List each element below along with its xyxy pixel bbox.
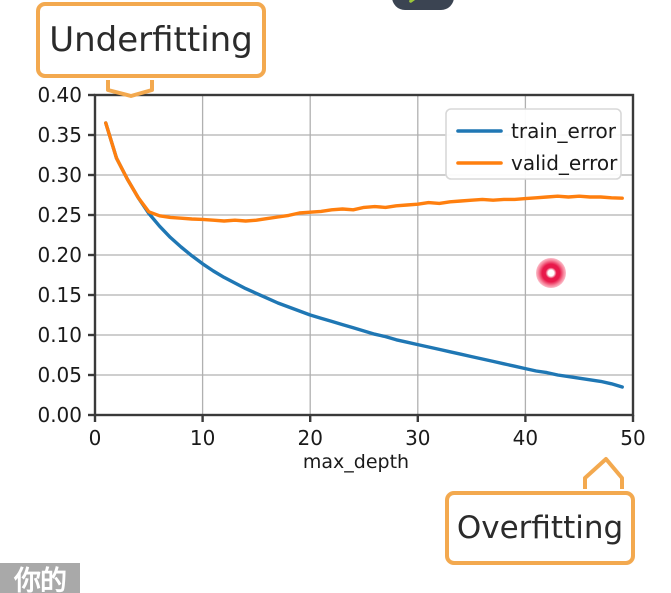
underfitting-callout-label: Underfitting [49, 23, 253, 57]
overfitting-callout-label: Overfitting [457, 513, 623, 544]
subtitle-chip: 你的 [0, 563, 80, 593]
screenshot-stage: 0.000.050.100.150.200.250.300.350.400102… [0, 0, 671, 593]
overfitting-callout: Overfitting [445, 491, 635, 565]
cursor-highlight-dot [536, 258, 566, 288]
overfitting-bubble-tail [585, 459, 622, 493]
subtitle-text: 你的 [14, 568, 66, 593]
underfitting-callout: Underfitting [36, 2, 266, 78]
